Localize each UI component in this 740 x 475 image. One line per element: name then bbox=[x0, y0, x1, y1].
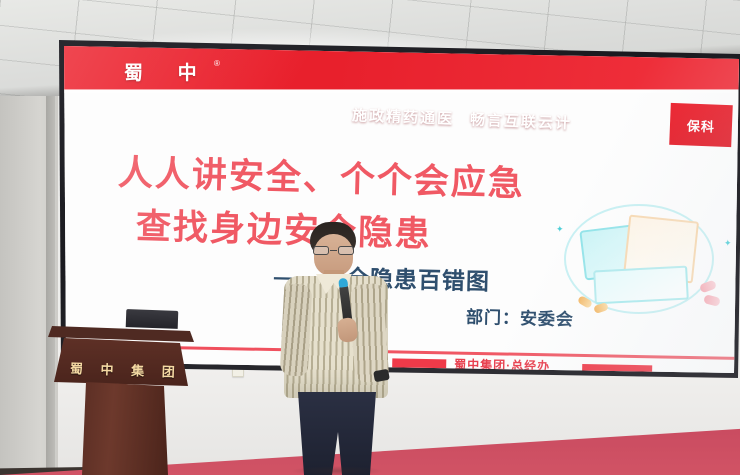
kicker-left-text: 施政精药通医 bbox=[352, 107, 455, 128]
kicker-right-text: 畅言互联云计 bbox=[470, 111, 573, 132]
slide-kicker: 施政精药通医畅言互联云计 bbox=[352, 104, 673, 137]
speaker-floor-shadow bbox=[290, 466, 384, 475]
medical-illustration: ✦ ✦ bbox=[554, 194, 740, 324]
speaker-hand bbox=[336, 317, 358, 343]
sparkle-icon: ✦ bbox=[556, 224, 564, 235]
podium-column bbox=[82, 382, 168, 475]
slide-title-line-1: 人人讲安全、个个会应急 bbox=[117, 144, 525, 206]
laptop-icon bbox=[126, 309, 179, 329]
slide-department: 部门：安委会 bbox=[466, 303, 575, 331]
speaker bbox=[276, 222, 398, 475]
brand-logo: 蜀 中 bbox=[124, 58, 211, 85]
brand-registered-mark: ® bbox=[214, 59, 220, 68]
speaker-left-arm bbox=[280, 283, 313, 376]
illustration-book-open bbox=[593, 266, 689, 305]
speaker-trousers bbox=[298, 392, 376, 475]
podium: 蜀 中 集 团 bbox=[48, 326, 194, 475]
photo-scene: 蜀 中 ® 施政精药通医畅言互联云计 保科 ✦ ✦ bbox=[0, 0, 740, 475]
glasses-icon bbox=[313, 246, 354, 255]
sparkle-icon: ✦ bbox=[724, 238, 732, 249]
pill-icon bbox=[703, 294, 721, 307]
sub-brand-badge: 保科 bbox=[669, 103, 733, 147]
podium-logo-text: 蜀 中 集 团 bbox=[70, 358, 187, 381]
podium-front-panel: 蜀 中 集 团 bbox=[54, 338, 188, 386]
